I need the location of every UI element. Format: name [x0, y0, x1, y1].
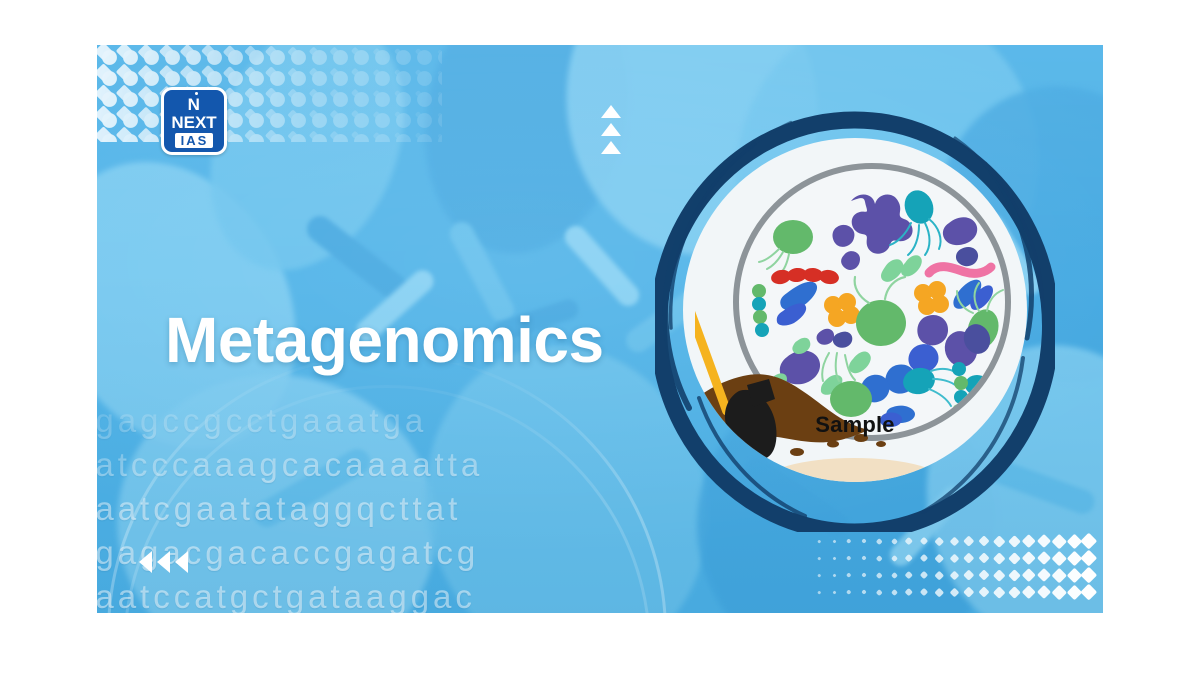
diamond-dot [415, 132, 421, 138]
diamond-dot [351, 131, 360, 140]
diamond-dot [1022, 568, 1035, 581]
diamond-dot [308, 67, 318, 77]
diamond-dot [905, 537, 913, 545]
diamond-dot [920, 588, 928, 596]
diamond-dot [116, 127, 134, 145]
diamond-dot [394, 48, 401, 55]
diamond-dot [1037, 551, 1051, 565]
diamond-dot [287, 88, 298, 99]
diamond-dot [1037, 534, 1051, 548]
diamond-dot [437, 70, 443, 76]
diamond-dot [116, 64, 134, 82]
diamond-dot [244, 66, 257, 79]
diamond-dot [244, 87, 257, 100]
diamond-dot [97, 126, 113, 144]
diamond-dot [159, 45, 175, 59]
diamond-dot [964, 587, 975, 598]
diamond-dot [287, 109, 298, 120]
diamond-dot [116, 45, 134, 60]
diamond-dot [330, 131, 340, 141]
diamond-dot [1081, 584, 1097, 600]
triangle-up-icon [601, 105, 621, 118]
diamond-dot [949, 570, 959, 580]
diamond-dot [1066, 533, 1082, 549]
diamond-dot [1008, 569, 1021, 582]
diamond-dot [861, 572, 867, 578]
shovel-tool [695, 293, 835, 482]
diamond-dot [993, 569, 1005, 581]
diamond-dot [394, 90, 401, 97]
diamond-dot [137, 85, 154, 102]
dish-disc: Sample [683, 138, 1027, 482]
diamond-dot [876, 555, 882, 561]
diamond-dot [137, 127, 154, 144]
diamond-dot [1081, 550, 1097, 566]
sample-label: Sample [683, 412, 1027, 438]
banner: ggagccgcctgaaatga aatcccaaagcacaaaatta g… [97, 45, 1103, 613]
diamond-dot [934, 570, 943, 579]
diamond-dot [1052, 585, 1067, 600]
diamond-dot [308, 130, 318, 140]
diamond-dot [351, 89, 360, 98]
diamond-dot [137, 64, 154, 81]
diamond-dot [223, 45, 237, 58]
triangle-left-icon [139, 551, 152, 573]
diamond-dot [97, 105, 113, 123]
dot-pattern-top-left [97, 45, 442, 142]
diamond-dot [905, 554, 913, 562]
diamond-dot [372, 110, 380, 118]
diamond-dot [890, 588, 897, 595]
diamond-dot [993, 586, 1005, 598]
logo-line-n: N [188, 96, 201, 113]
diamond-dot [180, 45, 195, 59]
diamond-dot [1008, 586, 1021, 599]
diamond-dot [847, 556, 852, 561]
dna-line: aatcccaaagcacaaaatta [97, 443, 483, 487]
diamond-dot [949, 587, 959, 597]
diamond-dot [287, 130, 298, 141]
diamond-dot [934, 536, 943, 545]
diamond-dot [159, 65, 175, 81]
diamond-dot [1037, 585, 1051, 599]
diamond-dot [1022, 585, 1035, 598]
diamond-dot [920, 554, 928, 562]
diamond-dot [920, 537, 928, 545]
diamond-dot [223, 66, 237, 80]
diamond-dot [1052, 551, 1067, 566]
diamond-dot [265, 108, 277, 120]
diamond-dot [817, 539, 821, 543]
diamond-dot [330, 68, 340, 78]
diamond-dot [847, 539, 852, 544]
logo-line-next: NEXT [171, 114, 216, 131]
diamond-dot [415, 111, 421, 117]
diamond-dot [1037, 568, 1051, 582]
diamond-dot [817, 590, 821, 594]
petri-dish-illustration: Sample [655, 108, 1055, 532]
diamond-dot [244, 108, 257, 121]
triangle-up-icon [601, 141, 621, 154]
diamond-dot [1066, 584, 1082, 600]
diamond-dot [1066, 567, 1082, 583]
diamond-dot [265, 45, 277, 57]
diamond-dot [137, 45, 154, 60]
diamond-dot [308, 109, 318, 119]
diamond-dot [817, 556, 821, 560]
diamond-dot [1052, 568, 1067, 583]
diamond-dot [890, 554, 897, 561]
diamond-dot [437, 91, 443, 97]
triangle-marks-up [601, 105, 621, 159]
diamond-dot [861, 555, 867, 561]
diamond-dot [1081, 533, 1097, 549]
diamond-dot [265, 87, 277, 99]
diamond-dot [97, 63, 113, 81]
diamond-dot [993, 535, 1005, 547]
diamond-dot [437, 112, 443, 118]
diamond-dot [905, 571, 913, 579]
diamond-dot [394, 132, 401, 139]
slide-canvas: ggagccgcctgaaatga aatcccaaagcacaaaatta g… [0, 0, 1200, 675]
diamond-dot [817, 573, 821, 577]
diamond-dot [287, 67, 298, 78]
diamond-dot [265, 129, 277, 141]
diamond-dot [890, 571, 897, 578]
diamond-dot [287, 46, 298, 57]
diamond-dot [905, 588, 913, 596]
diamond-dot [265, 66, 277, 78]
diamond-dot [978, 535, 989, 546]
diamond-dot [861, 589, 867, 595]
diamond-dot [949, 553, 959, 563]
diamond-dot [415, 69, 421, 75]
page-title: Metagenomics [165, 303, 604, 377]
diamond-dot [180, 65, 195, 80]
diamond-dot [876, 572, 882, 578]
diamond-dot [993, 552, 1005, 564]
diamond-dot [330, 89, 340, 99]
triangle-left-icon [175, 551, 188, 573]
diamond-dot [978, 552, 989, 563]
diamond-dot [244, 45, 257, 58]
diamond-dot [437, 49, 443, 55]
diamond-dot [372, 47, 380, 55]
diamond-dot [832, 573, 836, 577]
diamond-dot [1008, 535, 1021, 548]
diamond-dot [372, 131, 380, 139]
diamond-dot [978, 569, 989, 580]
diamond-dot [351, 68, 360, 77]
nextias-logo[interactable]: N NEXT IAS [161, 87, 227, 155]
diamond-dot [244, 129, 257, 142]
diamond-dot [351, 110, 360, 119]
diamond-dot [964, 553, 975, 564]
diamond-dot [97, 45, 113, 61]
diamond-dot [876, 538, 882, 544]
diamond-dot [201, 45, 215, 59]
diamond-dot [1052, 534, 1067, 549]
triangle-up-icon [601, 123, 621, 136]
dot-pattern-bottom-right [813, 535, 1103, 607]
triangle-left-icon [157, 551, 170, 573]
diamond-dot [890, 537, 897, 544]
diamond-dot [1022, 551, 1035, 564]
diamond-dot [415, 90, 421, 96]
diamond-dot [330, 110, 340, 120]
diamond-dot [832, 590, 836, 594]
diamond-dot [308, 88, 318, 98]
logo-line-ias: IAS [175, 133, 214, 149]
diamond-dot [201, 65, 215, 79]
diamond-dot [861, 538, 867, 544]
diamond-dot [330, 47, 340, 57]
diamond-dot [372, 89, 380, 97]
diamond-dot [1081, 567, 1097, 583]
diamond-dot [1022, 534, 1035, 547]
diamond-dot [934, 587, 943, 596]
diamond-dot [1066, 550, 1082, 566]
dna-line: ggagccgcctgaaatga [97, 399, 483, 443]
diamond-dot [116, 106, 134, 124]
diamond-dot [437, 133, 443, 139]
diamond-dot [847, 573, 852, 578]
diamond-dot [97, 84, 113, 102]
diamond-dot [372, 68, 380, 76]
diamond-dot [964, 536, 975, 547]
dna-line: gaatcgaatataggqcttat [97, 487, 483, 531]
diamond-dot [920, 571, 928, 579]
diamond-dot [949, 536, 959, 546]
diamond-dot [415, 48, 421, 54]
dna-sequence-block: ggagccgcctgaaatga aatcccaaagcacaaaatta g… [97, 363, 697, 613]
diamond-dot [351, 47, 360, 56]
diamond-dot [978, 586, 989, 597]
diamond-dot [876, 589, 882, 595]
diamond-dot [847, 590, 852, 595]
triangle-marks-left [139, 551, 188, 573]
diamond-dot [934, 553, 943, 562]
diamond-dot [832, 556, 836, 560]
diamond-dot [1008, 552, 1021, 565]
diamond-dot [308, 46, 318, 56]
diamond-dot [137, 106, 154, 123]
diamond-dot [394, 69, 401, 76]
diamond-dot [116, 85, 134, 103]
diamond-dot [964, 570, 975, 581]
diamond-dot [832, 539, 836, 543]
dna-line: aaatccatgctgataaggac [97, 575, 483, 613]
diamond-dot [394, 111, 401, 118]
